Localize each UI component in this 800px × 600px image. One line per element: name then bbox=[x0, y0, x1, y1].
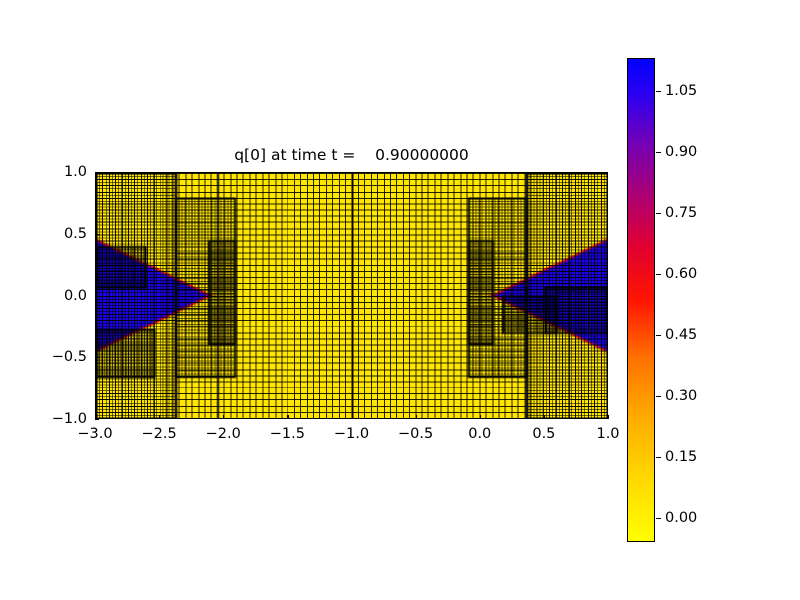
x-tick-mark bbox=[544, 415, 545, 419]
y-tick-mark bbox=[95, 234, 99, 235]
x-tick-mark bbox=[159, 415, 160, 419]
colorbar[interactable] bbox=[627, 58, 655, 542]
x-tick-label: −1.5 bbox=[259, 426, 315, 442]
colorbar-tick-label: 0.90 bbox=[665, 144, 697, 160]
colorbar-tick-mark bbox=[656, 152, 661, 153]
x-tick-label: 0.0 bbox=[452, 426, 508, 442]
colorbar-tick-mark bbox=[656, 274, 661, 275]
colorbar-tick-mark bbox=[656, 457, 661, 458]
x-tick-mark bbox=[95, 415, 96, 419]
x-tick-mark bbox=[416, 415, 417, 419]
x-tick-mark bbox=[223, 415, 224, 419]
colorbar-tick-mark bbox=[656, 518, 661, 519]
scalar-field-image bbox=[96, 173, 607, 418]
colorbar-tick-mark bbox=[656, 213, 661, 214]
x-tick-label: −2.5 bbox=[131, 426, 187, 442]
x-tick-mark bbox=[480, 415, 481, 419]
colorbar-tick-label: 0.30 bbox=[665, 388, 697, 404]
y-tick-mark bbox=[95, 296, 99, 297]
colorbar-tick-label: 0.45 bbox=[665, 327, 697, 343]
colorbar-tick-label: 0.00 bbox=[665, 510, 697, 526]
x-tick-label: −0.5 bbox=[388, 426, 444, 442]
colorbar-tick-mark bbox=[656, 396, 661, 397]
y-tick-label: −0.5 bbox=[41, 349, 87, 365]
x-tick-mark bbox=[608, 415, 609, 419]
colorbar-tick-label: 1.05 bbox=[665, 83, 697, 99]
y-tick-label: −1.0 bbox=[41, 411, 87, 427]
y-tick-mark bbox=[95, 172, 99, 173]
y-tick-label: 0.0 bbox=[41, 288, 87, 304]
y-tick-mark bbox=[95, 419, 99, 420]
figure-canvas: q[0] at time t = 0.90000000 1.00.50.0−0.… bbox=[0, 0, 800, 600]
y-tick-label: 1.0 bbox=[41, 164, 87, 180]
x-tick-label: −2.0 bbox=[195, 426, 251, 442]
y-tick-mark bbox=[95, 357, 99, 358]
x-tick-label: −3.0 bbox=[67, 426, 123, 442]
x-tick-label: −1.0 bbox=[324, 426, 380, 442]
x-tick-mark bbox=[352, 415, 353, 419]
heatmap-axes[interactable] bbox=[95, 172, 608, 419]
x-tick-mark bbox=[287, 415, 288, 419]
colorbar-tick-mark bbox=[656, 335, 661, 336]
colorbar-tick-label: 0.15 bbox=[665, 449, 697, 465]
x-tick-label: 0.5 bbox=[516, 426, 572, 442]
colorbar-tick-label: 0.60 bbox=[665, 266, 697, 282]
colorbar-tick-label: 0.75 bbox=[665, 205, 697, 221]
colorbar-tick-mark bbox=[656, 91, 661, 92]
y-tick-label: 0.5 bbox=[41, 226, 87, 242]
page-title: q[0] at time t = 0.90000000 bbox=[95, 146, 608, 164]
